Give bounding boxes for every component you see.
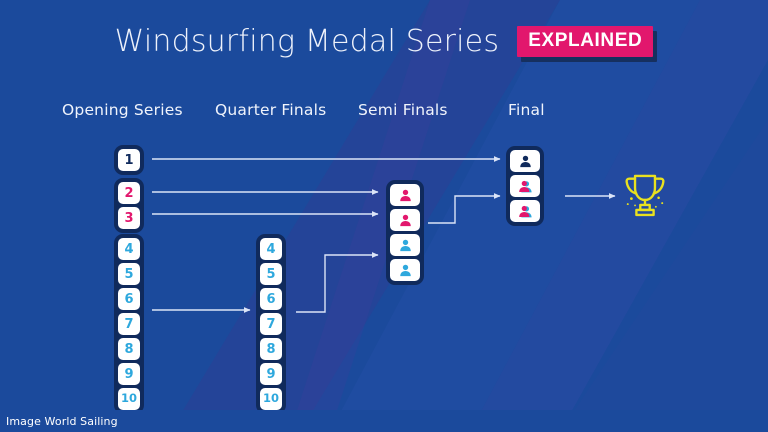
semi-group: [386, 180, 424, 285]
column-header-semi-finals: Semi Finals: [358, 101, 448, 119]
column-header-opening-series: Opening Series: [62, 101, 183, 119]
final-sailor-3[interactable]: [510, 200, 540, 222]
quarter-cell-4[interactable]: 4: [260, 238, 282, 260]
quarter-cell-10[interactable]: 10: [260, 388, 282, 410]
opening-cell-10[interactable]: 10: [118, 388, 140, 410]
explained-badge: EXPLAINED: [517, 26, 653, 57]
explained-badge-wrap: EXPLAINED: [517, 26, 653, 57]
column-header-quarter-finals: Quarter Finals: [215, 101, 326, 119]
semi-sailor-1[interactable]: [390, 184, 420, 206]
opening-cell-9[interactable]: 9: [118, 363, 140, 385]
semi-sailor-4[interactable]: [390, 259, 420, 281]
image-credit-bar: Image World Sailing: [0, 410, 768, 432]
final-group: [506, 146, 544, 226]
trophy-container: [616, 166, 674, 229]
person-icon: [518, 154, 533, 169]
person-icon: [398, 263, 413, 278]
trophy-icon: [616, 166, 674, 224]
opening-cell-6[interactable]: 6: [118, 288, 140, 310]
person-icon: [517, 179, 534, 194]
opening-cell-5[interactable]: 5: [118, 263, 140, 285]
column-header-final: Final: [508, 101, 545, 119]
person-icon: [398, 238, 413, 253]
image-credit-text: Image World Sailing: [0, 415, 118, 428]
quarter-group: 4 5 6 7 8 9 10: [256, 234, 286, 414]
semi-sailor-2[interactable]: [390, 209, 420, 231]
opening-cell-2[interactable]: 2: [118, 182, 140, 204]
column-headers: Opening Series Quarter Finals Semi Final…: [0, 101, 768, 125]
opening-group-second: 2 3: [114, 178, 144, 233]
quarter-cell-7[interactable]: 7: [260, 313, 282, 335]
opening-group-first: 1: [114, 145, 144, 175]
opening-cell-4[interactable]: 4: [118, 238, 140, 260]
semi-sailor-3[interactable]: [390, 234, 420, 256]
person-icon: [398, 213, 413, 228]
final-sailor-1[interactable]: [510, 150, 540, 172]
title-row: Windsurfing Medal Series EXPLAINED: [0, 24, 768, 59]
quarter-cell-8[interactable]: 8: [260, 338, 282, 360]
quarter-cell-9[interactable]: 9: [260, 363, 282, 385]
opening-group-rest: 4 5 6 7 8 9 10: [114, 234, 144, 414]
page-title: Windsurfing Medal Series: [115, 24, 500, 59]
person-icon: [398, 188, 413, 203]
opening-cell-8[interactable]: 8: [118, 338, 140, 360]
opening-cell-3[interactable]: 3: [118, 207, 140, 229]
opening-cell-1[interactable]: 1: [118, 149, 140, 171]
slide-canvas: Windsurfing Medal Series EXPLAINED Openi…: [0, 0, 768, 432]
final-sailor-2[interactable]: [510, 175, 540, 197]
person-icon: [517, 204, 534, 219]
quarter-cell-6[interactable]: 6: [260, 288, 282, 310]
quarter-cell-5[interactable]: 5: [260, 263, 282, 285]
opening-cell-7[interactable]: 7: [118, 313, 140, 335]
